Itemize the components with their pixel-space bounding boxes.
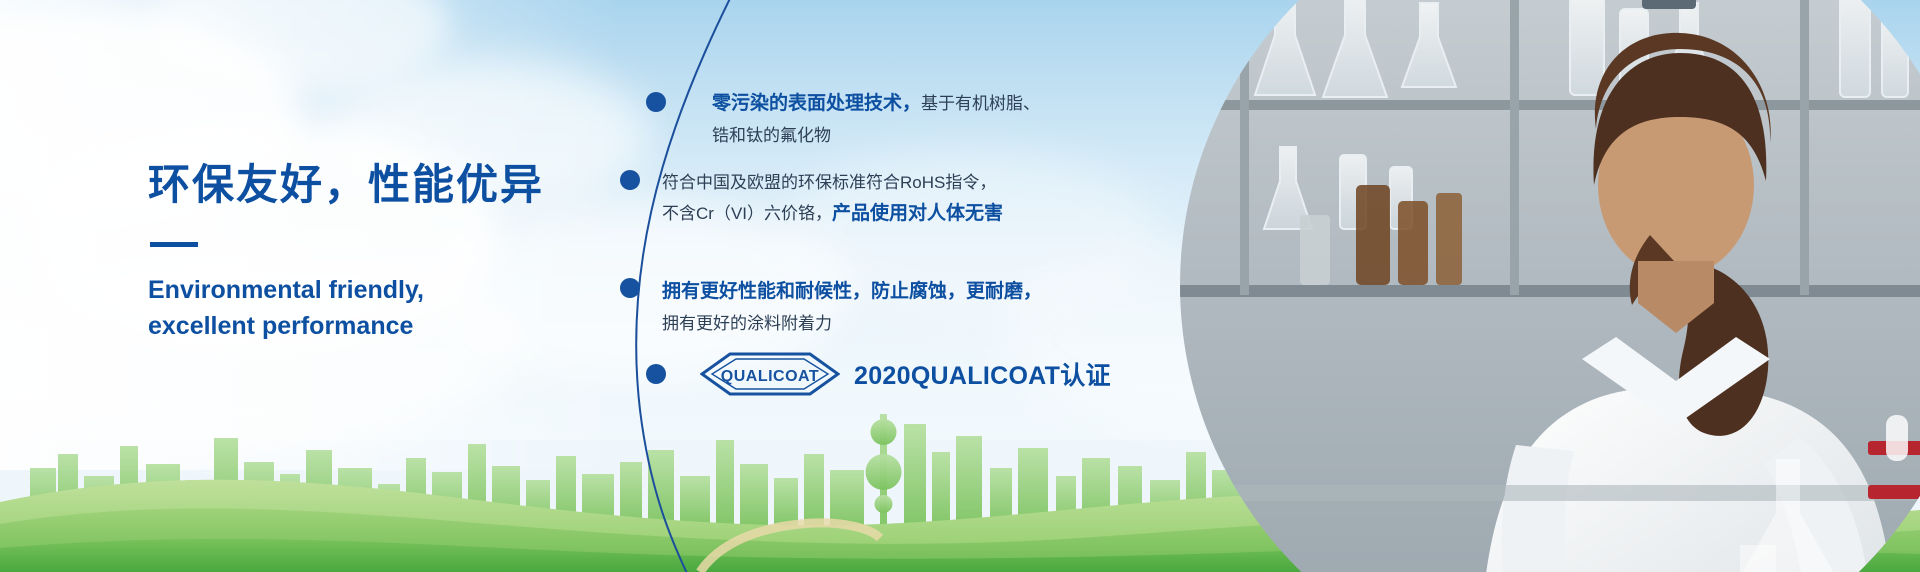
- feature-item-2: 符合中国及欧盟的环保标准符合RoHS指令， 不含Cr（VI）六价铬，产品使用对人…: [662, 168, 1003, 230]
- feature-2-line2-strong: 产品使用对人体无害: [832, 203, 1003, 224]
- bullet-dot-icon: [620, 278, 640, 298]
- feature-1-line2-normal: 锆和钛的氟化物: [712, 126, 831, 145]
- svg-text:QUALICOAT: QUALICOAT: [721, 368, 819, 385]
- feature-2-line2-normal: 不含Cr（VI）六价铬，: [662, 204, 832, 223]
- certification-label: 2020QUALICOAT认证: [854, 356, 1111, 392]
- bullet-dot-icon: [646, 92, 666, 112]
- feature-item-1: 零污染的表面处理技术，基于有机树脂、 锆和钛的氟化物: [712, 88, 1040, 150]
- qualicoat-logo-icon: QUALICOAT: [700, 352, 840, 396]
- bullet-dot-icon: [646, 364, 666, 384]
- feature-item-3: 拥有更好性能和耐候性，防止腐蚀，更耐磨， 拥有更好的涂料附着力: [662, 276, 1042, 338]
- bullet-dot-icon: [620, 170, 640, 190]
- feature-3-line2-normal: 拥有更好的涂料附着力: [662, 314, 832, 333]
- feature-1-line1-strong: 零污染的表面处理技术，: [712, 93, 921, 114]
- feature-2-line1-normal: 符合中国及欧盟的环保标准符合RoHS指令，: [662, 173, 996, 192]
- feature-1-line1-normal: 基于有机树脂、: [921, 94, 1040, 113]
- feature-list: 零污染的表面处理技术，基于有机树脂、 锆和钛的氟化物 符合中国及欧盟的环保标准符…: [0, 0, 1920, 572]
- feature-3-line1-strong: 拥有更好性能和耐候性，防止腐蚀，更耐磨，: [662, 281, 1042, 302]
- certification-row: QUALICOAT 2020QUALICOAT认证: [700, 352, 1111, 396]
- banner-stage: 环保友好，性能优异 Environmental friendly, excell…: [0, 0, 1920, 572]
